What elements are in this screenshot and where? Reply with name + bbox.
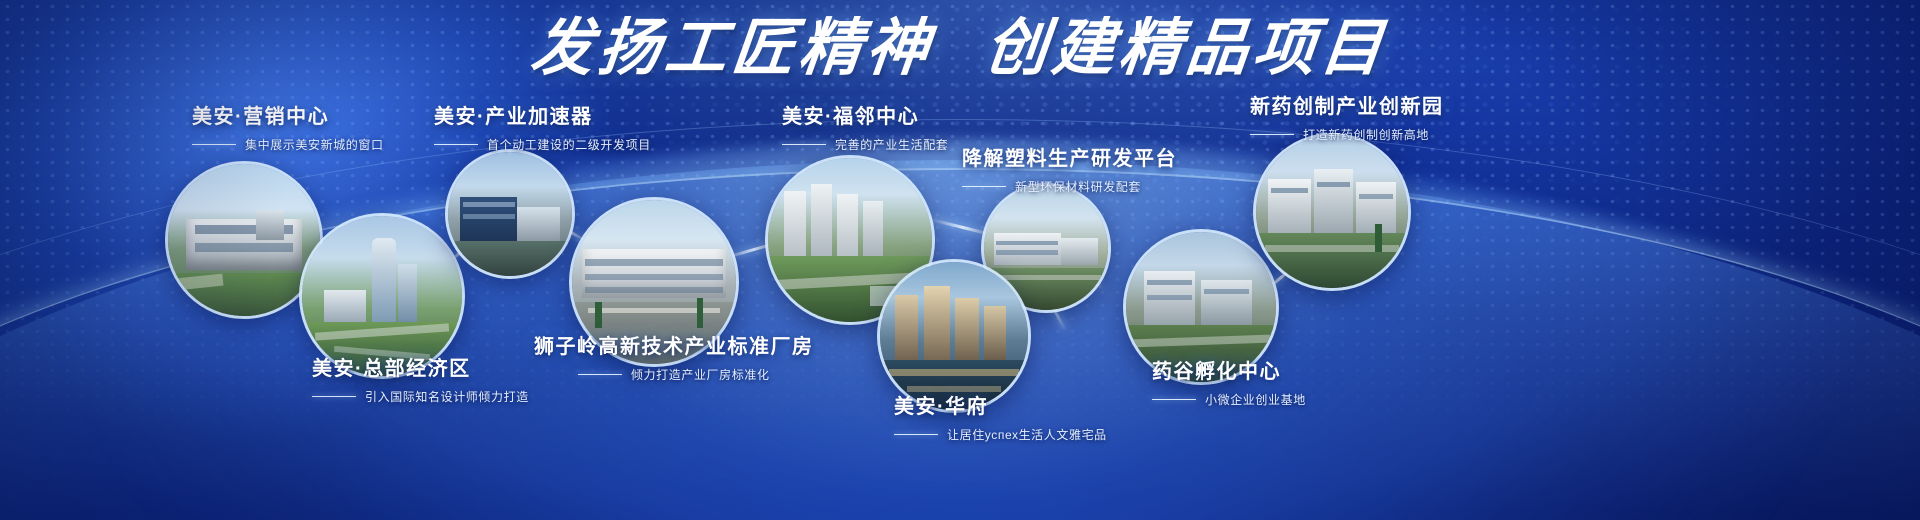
node-marketing-center[interactable] [168,164,320,316]
label-marketing-center: 美安·营销中心 集中展示美安新城的窗口 [192,100,384,153]
label-drug-valley-incubation-center-subtitle: 小微企业创业基地 [1205,391,1306,408]
label-meian-huafu-subtitle-row: 让居住успех生活人文雅宅品 [894,426,1107,443]
node-marketing-center-image [168,164,320,316]
label-industry-accelerator-subtitle: 首个动工建设的二级开发项目 [487,136,651,153]
label-fulin-center-subtitle: 完善的产业生活配套 [835,136,948,153]
label-degradable-plastics-platform: 降解塑料生产研发平台 新型环保材料研发配套 [962,142,1177,195]
label-fulin-center: 美安·福邻中心 完善的产业生活配套 [782,100,948,153]
label-degradable-plastics-platform-subtitle-row: 新型环保材料研发配套 [962,178,1177,195]
label-headquarters-economy-zone-title: 美安·总部经济区 [312,352,529,381]
node-meian-huafu[interactable] [880,262,1028,410]
node-industry-accelerator-image [448,152,572,276]
label-shiziling-standard-factory-subtitle: 倾力打造产业厂房标准化 [631,366,770,383]
node-new-drug-innovation-park[interactable] [1256,136,1408,288]
label-marketing-center-subtitle: 集中展示美安新城的窗口 [245,136,384,153]
label-marketing-center-subtitle-row: 集中展示美安新城的窗口 [192,136,384,153]
label-industry-accelerator: 美安·产业加速器 首个动工建设的二级开发项目 [434,100,651,153]
label-degradable-plastics-platform-subtitle: 新型环保材料研发配套 [1015,178,1141,195]
label-degradable-plastics-platform-title: 降解塑料生产研发平台 [962,142,1177,171]
label-new-drug-innovation-park-subtitle-row: 打造新药创制创新高地 [1250,126,1444,143]
banner-title: 发扬工匠精神 创建精品项目 [0,2,1920,82]
label-new-drug-innovation-park-title: 新药创制产业创新园 [1250,90,1444,119]
label-headquarters-economy-zone-subtitle: 引入国际知名设计师倾力打造 [365,388,529,405]
label-meian-huafu: 美安·华府 让居住успех生活人文雅宅品 [894,390,1107,443]
label-marketing-center-title: 美安·营销中心 [192,100,384,129]
rule-icon [962,186,1006,188]
label-meian-huafu-subtitle: 让居住успех生活人文雅宅品 [947,426,1107,443]
rule-icon [894,434,938,436]
label-fulin-center-title: 美安·福邻中心 [782,100,948,129]
label-shiziling-standard-factory-subtitle-row: 倾力打造产业厂房标准化 [534,366,814,383]
promotional-banner: 发扬工匠精神 创建精品项目 [0,0,1920,520]
rule-icon [434,144,478,146]
label-headquarters-economy-zone-subtitle-row: 引入国际知名设计师倾力打造 [312,388,529,405]
rule-icon [192,144,236,146]
title-left-text: 发扬工匠精神 [527,0,938,87]
node-meian-huafu-image [880,262,1028,410]
node-industry-accelerator[interactable] [448,152,572,276]
label-drug-valley-incubation-center-title: 药谷孵化中心 [1152,355,1306,384]
label-drug-valley-incubation-center: 药谷孵化中心 小微企业创业基地 [1152,355,1306,408]
label-meian-huafu-title: 美安·华府 [894,390,1107,419]
label-industry-accelerator-subtitle-row: 首个动工建设的二级开发项目 [434,136,651,153]
label-shiziling-standard-factory-title: 狮子岭高新技术产业标准厂房 [534,330,814,359]
label-industry-accelerator-title: 美安·产业加速器 [434,100,651,129]
label-new-drug-innovation-park-subtitle: 打造新药创制创新高地 [1303,126,1429,143]
node-new-drug-innovation-park-image [1256,136,1408,288]
rule-icon [1250,134,1294,136]
label-shiziling-standard-factory: 狮子岭高新技术产业标准厂房 倾力打造产业厂房标准化 [534,330,814,383]
label-headquarters-economy-zone: 美安·总部经济区 引入国际知名设计师倾力打造 [312,352,529,405]
title-right-text: 创建精品项目 [981,0,1392,87]
label-drug-valley-incubation-center-subtitle-row: 小微企业创业基地 [1152,391,1306,408]
rule-icon [312,396,356,398]
rule-icon [578,374,622,376]
label-fulin-center-subtitle-row: 完善的产业生活配套 [782,136,948,153]
rule-icon [1152,399,1196,401]
label-new-drug-innovation-park: 新药创制产业创新园 打造新药创制创新高地 [1250,90,1444,143]
rule-icon [782,144,826,146]
